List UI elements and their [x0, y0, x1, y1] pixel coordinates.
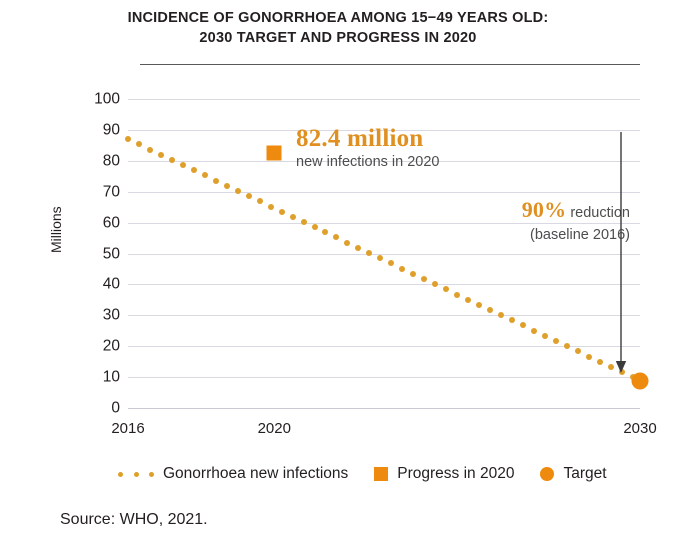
series-dot	[312, 224, 318, 230]
series-dot	[487, 307, 493, 313]
source-note: Source: WHO, 2021.	[60, 512, 208, 528]
target-arrow-icon	[614, 132, 628, 374]
y-axis-tick-labels: 1009080706050403020100	[68, 99, 120, 408]
progress-2020-marker	[267, 146, 282, 161]
x-axis-tick-labels: 201620202030	[128, 421, 640, 443]
series-dot	[333, 234, 339, 240]
y-axis-label: Millions	[48, 206, 64, 253]
y-tick-label: 0	[111, 400, 120, 416]
series-dot	[531, 328, 537, 334]
series-dot	[279, 209, 285, 215]
gridline	[128, 408, 640, 409]
series-dot	[191, 167, 197, 173]
target-2030-marker	[632, 373, 649, 390]
series-dot	[290, 214, 296, 220]
y-tick-label: 60	[103, 215, 120, 231]
series-dot	[586, 354, 592, 360]
y-tick-label: 90	[103, 122, 120, 138]
series-dot	[454, 292, 460, 298]
gridline	[128, 284, 640, 285]
series-dot	[268, 204, 274, 210]
series-dot	[399, 266, 405, 272]
gridline	[128, 377, 640, 378]
y-tick-label: 30	[103, 308, 120, 324]
chart-title-block: INCIDENCE OF GONORRHOEA AMONG 15−49 YEAR…	[88, 8, 588, 48]
y-tick-label: 100	[94, 91, 120, 107]
legend-item-progress-in-2020[interactable]: Progress in 2020	[374, 466, 514, 482]
series-dot	[520, 322, 526, 328]
annotation-target-2030: 90% reduction (baseline 2016)	[470, 198, 630, 246]
series-dot	[443, 286, 449, 292]
annotation-target-subtext: (baseline 2016)	[470, 225, 630, 246]
title-divider	[140, 64, 640, 65]
series-dot	[169, 157, 175, 163]
series-dot	[465, 297, 471, 303]
annotation-target-line1: 90% reduction	[470, 198, 630, 225]
legend-item-gonorrhoea-new-infections[interactable]: Gonorrhoea new infections	[118, 466, 348, 482]
series-dot	[509, 317, 515, 323]
page-title: INCIDENCE OF GONORRHOEA AMONG 15−49 YEAR…	[88, 8, 588, 48]
dotted-line-icon	[118, 472, 154, 477]
y-tick-label: 80	[103, 153, 120, 169]
y-tick-label: 20	[103, 338, 120, 354]
series-dot	[542, 333, 548, 339]
legend-label: Progress in 2020	[397, 466, 514, 482]
gridline	[128, 99, 640, 100]
series-dot	[608, 364, 614, 370]
series-dot	[553, 338, 559, 344]
series-dot	[575, 348, 581, 354]
y-tick-label: 40	[103, 277, 120, 293]
series-dot	[344, 240, 350, 246]
series-dot	[476, 302, 482, 308]
annotation-target-percent: 90%	[522, 197, 567, 222]
gridline	[128, 254, 640, 255]
y-tick-label: 10	[103, 369, 120, 385]
legend-label: Target	[563, 466, 606, 482]
series-dot	[410, 271, 416, 277]
series-dot	[136, 141, 142, 147]
x-tick-label: 2030	[623, 421, 656, 436]
annotation-progress-headline: 82.4 million	[296, 126, 536, 152]
series-dot	[432, 281, 438, 287]
chart-legend: Gonorrhoea new infections Progress in 20…	[118, 462, 607, 486]
series-dot	[355, 245, 361, 251]
annotation-progress-subtext: new infections in 2020	[296, 152, 536, 172]
series-dot	[257, 198, 263, 204]
series-dot	[235, 188, 241, 194]
gridline	[128, 192, 640, 193]
annotation-progress-2020: 82.4 million new infections in 2020	[296, 126, 536, 172]
series-dot	[246, 193, 252, 199]
circle-marker-icon	[540, 467, 554, 481]
x-tick-label: 2016	[111, 421, 144, 436]
series-dot	[180, 162, 186, 168]
series-dot	[224, 183, 230, 189]
series-dot	[202, 172, 208, 178]
series-dot	[597, 359, 603, 365]
series-dot	[301, 219, 307, 225]
y-tick-label: 70	[103, 184, 120, 200]
series-dot	[564, 343, 570, 349]
x-tick-label: 2020	[258, 421, 291, 436]
series-dot	[498, 312, 504, 318]
legend-item-target[interactable]: Target	[540, 466, 606, 482]
series-dot	[147, 147, 153, 153]
legend-label: Gonorrhoea new infections	[163, 466, 348, 482]
y-tick-label: 50	[103, 246, 120, 262]
series-dot	[377, 255, 383, 261]
series-dot	[158, 152, 164, 158]
series-dot	[388, 260, 394, 266]
series-dot	[421, 276, 427, 282]
series-dot	[322, 229, 328, 235]
series-dot	[125, 136, 131, 142]
square-marker-icon	[374, 467, 388, 481]
series-dot	[213, 178, 219, 184]
series-dot	[366, 250, 372, 256]
gridline	[128, 315, 640, 316]
